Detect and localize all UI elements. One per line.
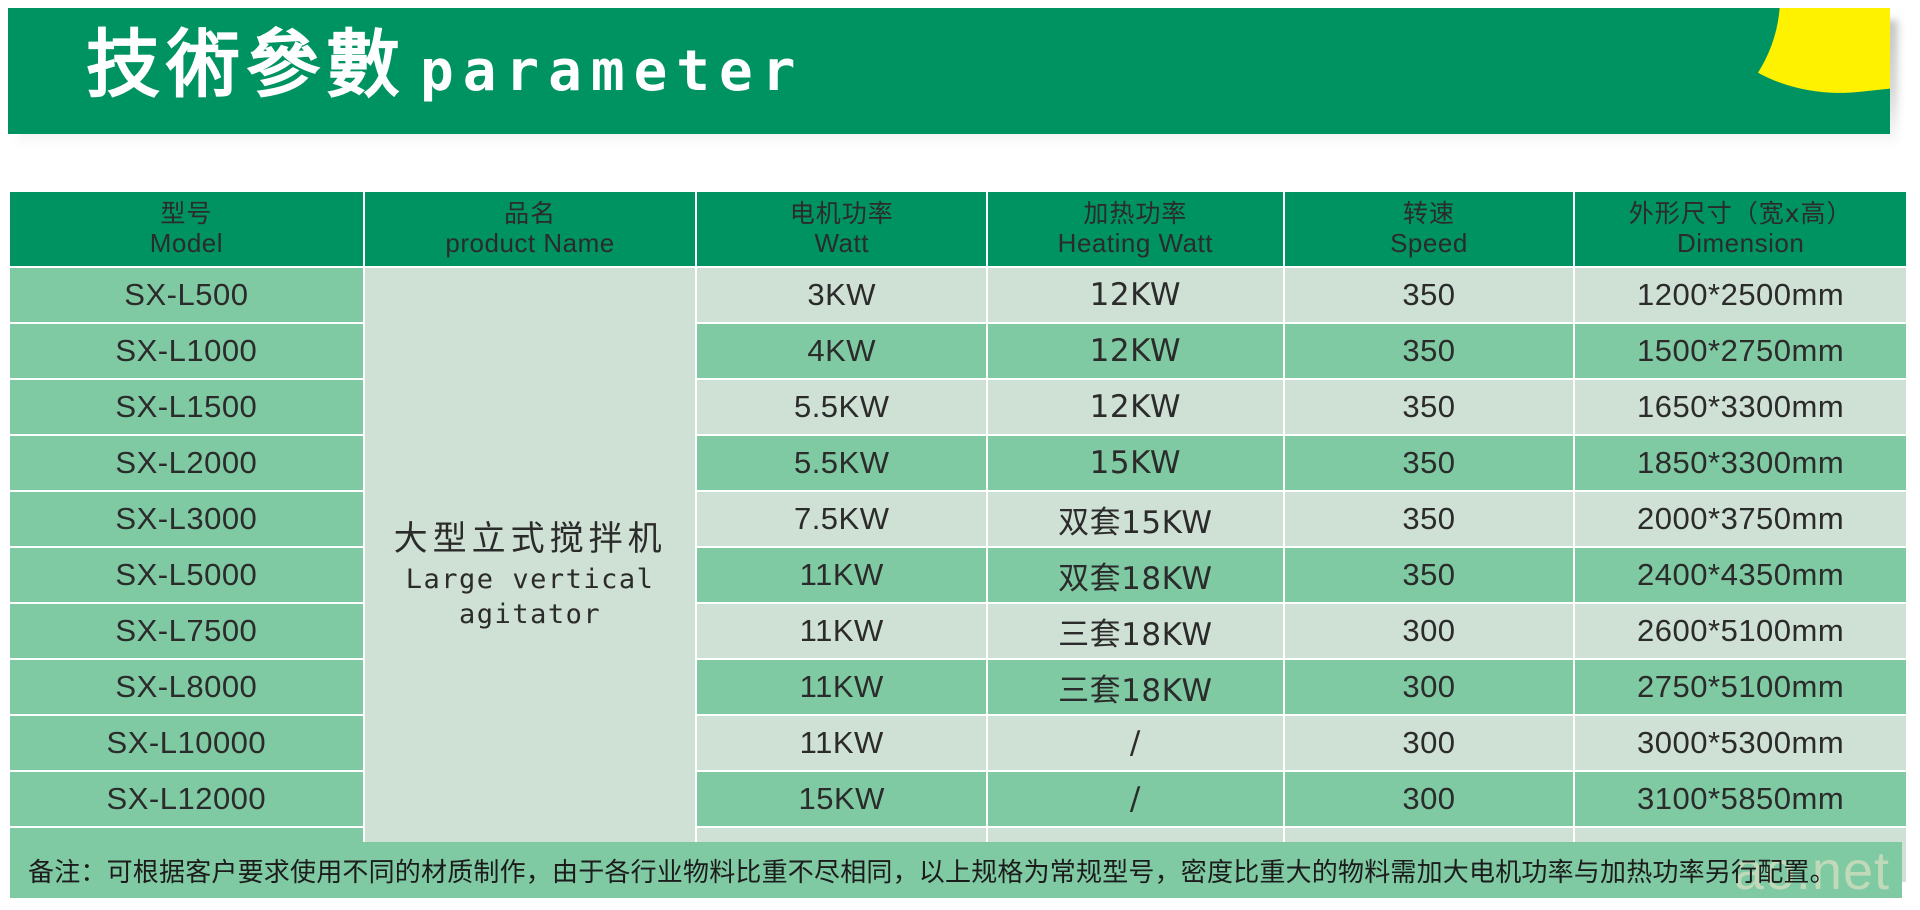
column-header-heating-watt-en: Heating Watt (988, 228, 1283, 259)
table-header-row: 型号 Model 品名 product Name 电机功率 Watt 加热功率 … (10, 192, 1906, 266)
table-row: SX-L800011KW三套18KW3002750*5100mm (10, 660, 1906, 714)
table-row: SX-L1000011KW/3003000*5300mm (10, 716, 1906, 770)
cell-heating-watt: 三套18KW (988, 604, 1283, 658)
column-header-heating-watt-cn: 加热功率 (988, 199, 1283, 229)
cell-speed: 350 (1285, 436, 1574, 490)
column-header-speed-cn: 转速 (1285, 199, 1574, 229)
cell-watt: 7.5KW (697, 492, 986, 546)
page-curl-base (1690, 96, 1890, 134)
column-header-dimension-cn: 外形尺寸（宽x高） (1575, 199, 1906, 229)
table-row: SX-L500大型立式搅拌机Large vertical agitator3KW… (10, 268, 1906, 322)
cell-dimension: 2600*5100mm (1575, 604, 1906, 658)
page-banner: 技術參數 parameter (8, 8, 1898, 138)
table-body: SX-L500大型立式搅拌机Large vertical agitator3KW… (10, 268, 1906, 882)
cell-watt: 5.5KW (697, 380, 986, 434)
column-header-model-cn: 型号 (10, 199, 363, 229)
cell-dimension: 2750*5100mm (1575, 660, 1906, 714)
cell-speed: 350 (1285, 380, 1574, 434)
product-name-en: Large vertical agitator (365, 562, 696, 633)
column-header-heating-watt: 加热功率 Heating Watt (988, 192, 1283, 266)
cell-watt: 11KW (697, 660, 986, 714)
cell-watt: 11KW (697, 716, 986, 770)
column-header-product-name-cn: 品名 (365, 199, 696, 229)
page-title-cn: 技術參數 (86, 28, 406, 102)
column-header-dimension: 外形尺寸（宽x高） Dimension (1575, 192, 1906, 266)
cell-watt: 11KW (697, 604, 986, 658)
cell-model: SX-L7500 (10, 604, 363, 658)
table-row: SX-L10004KW12KW3501500*2750mm (10, 324, 1906, 378)
cell-model: SX-L1500 (10, 380, 363, 434)
parameter-table: 型号 Model 品名 product Name 电机功率 Watt 加热功率 … (8, 190, 1908, 884)
cell-watt: 11KW (697, 548, 986, 602)
cell-model: SX-L2000 (10, 436, 363, 490)
cell-heating-watt: 双套18KW (988, 548, 1283, 602)
cell-heating-watt: 12KW (988, 268, 1283, 322)
cell-dimension: 2400*4350mm (1575, 548, 1906, 602)
cell-model: SX-L8000 (10, 660, 363, 714)
column-header-dimension-en: Dimension (1575, 228, 1906, 259)
cell-model: SX-L1000 (10, 324, 363, 378)
table-row: SX-L500011KW双套18KW3502400*4350mm (10, 548, 1906, 602)
cell-watt: 4KW (697, 324, 986, 378)
column-header-model-en: Model (10, 228, 363, 259)
column-header-product-name-en: product Name (365, 228, 696, 259)
cell-heating-watt: 15KW (988, 436, 1283, 490)
cell-dimension: 3100*5850mm (1575, 772, 1906, 826)
column-header-watt: 电机功率 Watt (697, 192, 986, 266)
table-row: SX-L20005.5KW15KW3501850*3300mm (10, 436, 1906, 490)
cell-heating-watt: 三套18KW (988, 660, 1283, 714)
cell-model: SX-L10000 (10, 716, 363, 770)
column-header-model: 型号 Model (10, 192, 363, 266)
footer-note-text: 备注：可根据客户要求使用不同的材质制作，由于各行业物料比重不尽相同，以上规格为常… (10, 852, 1836, 889)
cell-speed: 350 (1285, 268, 1574, 322)
page-title-en: parameter (420, 44, 804, 100)
cell-speed: 350 (1285, 492, 1574, 546)
cell-watt: 15KW (697, 772, 986, 826)
column-header-speed: 转速 Speed (1285, 192, 1574, 266)
footer-note: ao.net 备注：可根据客户要求使用不同的材质制作，由于各行业物料比重不尽相同… (10, 842, 1902, 898)
cell-dimension: 2000*3750mm (1575, 492, 1906, 546)
cell-dimension: 1850*3300mm (1575, 436, 1906, 490)
cell-heating-watt: / (988, 772, 1283, 826)
cell-dimension: 1500*2750mm (1575, 324, 1906, 378)
cell-heating-watt: 12KW (988, 324, 1283, 378)
cell-model: SX-L500 (10, 268, 363, 322)
cell-model: SX-L3000 (10, 492, 363, 546)
cell-speed: 300 (1285, 772, 1574, 826)
cell-heating-watt: 12KW (988, 380, 1283, 434)
column-header-speed-en: Speed (1285, 228, 1574, 259)
cell-speed: 300 (1285, 716, 1574, 770)
cell-speed: 350 (1285, 548, 1574, 602)
column-header-watt-cn: 电机功率 (697, 199, 986, 229)
cell-watt: 5.5KW (697, 436, 986, 490)
cell-model: SX-L5000 (10, 548, 363, 602)
cell-speed: 300 (1285, 660, 1574, 714)
cell-speed: 350 (1285, 324, 1574, 378)
cell-heating-watt: 双套15KW (988, 492, 1283, 546)
cell-speed: 300 (1285, 604, 1574, 658)
cell-product-name: 大型立式搅拌机Large vertical agitator (365, 268, 696, 882)
table-row: SX-L15005.5KW12KW3501650*3300mm (10, 380, 1906, 434)
cell-dimension: 1650*3300mm (1575, 380, 1906, 434)
column-header-product-name: 品名 product Name (365, 192, 696, 266)
cell-heating-watt: / (988, 716, 1283, 770)
cell-model: SX-L12000 (10, 772, 363, 826)
table-row: SX-L30007.5KW双套15KW3502000*3750mm (10, 492, 1906, 546)
table-row: SX-L750011KW三套18KW3002600*5100mm (10, 604, 1906, 658)
column-header-watt-en: Watt (697, 228, 986, 259)
cell-dimension: 1200*2500mm (1575, 268, 1906, 322)
product-name-cn: 大型立式搅拌机 (365, 517, 696, 562)
cell-dimension: 3000*5300mm (1575, 716, 1906, 770)
page-title: 技術參數 parameter (86, 28, 804, 102)
parameter-table-page: 技術參數 parameter 型号 Model 品名 product Name … (0, 0, 1920, 910)
table-row: SX-L1200015KW/3003100*5850mm (10, 772, 1906, 826)
cell-watt: 3KW (697, 268, 986, 322)
